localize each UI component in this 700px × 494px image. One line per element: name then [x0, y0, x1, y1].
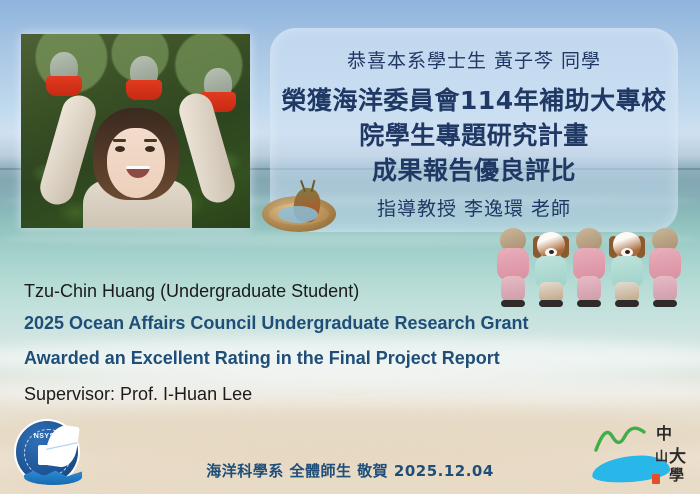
student-name-text: Tzu-Chin Huang (Undergraduate Student) — [24, 281, 359, 302]
grant-title-text: 2025 Ocean Affairs Council Undergraduate… — [24, 313, 529, 334]
department-oceanography-logo-icon: NSYSU — [14, 419, 88, 489]
uni-logo-char-zhong: 中 — [656, 420, 672, 444]
supervisor-text: Supervisor: Prof. I-Huan Lee — [24, 384, 252, 405]
sticker-row — [496, 228, 680, 308]
uni-logo-char-shan: 山 — [655, 446, 668, 465]
student-photo — [21, 34, 250, 228]
mountain-stroke-icon — [594, 424, 648, 452]
red-seal-icon — [652, 474, 660, 484]
doll-sticker-icon — [648, 228, 682, 308]
award-line-2: 院學生專題研究計畫 — [270, 116, 678, 152]
nsysu-university-logo-icon: 中 山 大 學 — [590, 418, 690, 490]
poster-canvas: 恭喜本系學士生 黃子芩 同學 榮獲海洋委員會114年補助大專校 院學生專題研究計… — [0, 0, 700, 494]
uni-logo-char-xue: 學 — [669, 464, 684, 485]
beagle-dog-icon — [610, 228, 644, 308]
award-line-3: 成果報告優良評比 — [270, 151, 678, 187]
doll-sticker-icon — [572, 228, 606, 308]
student-figure — [21, 78, 250, 228]
award-line-1: 榮獲海洋委員會114年補助大專校 — [270, 81, 678, 117]
doll-sticker-icon — [496, 228, 530, 308]
beagle-dog-icon — [534, 228, 568, 308]
hermit-crab-icon — [262, 186, 336, 232]
congratulation-line: 恭喜本系學士生 黃子芩 同學 — [270, 46, 678, 73]
award-title-text: Awarded an Excellent Rating in the Final… — [24, 348, 500, 369]
